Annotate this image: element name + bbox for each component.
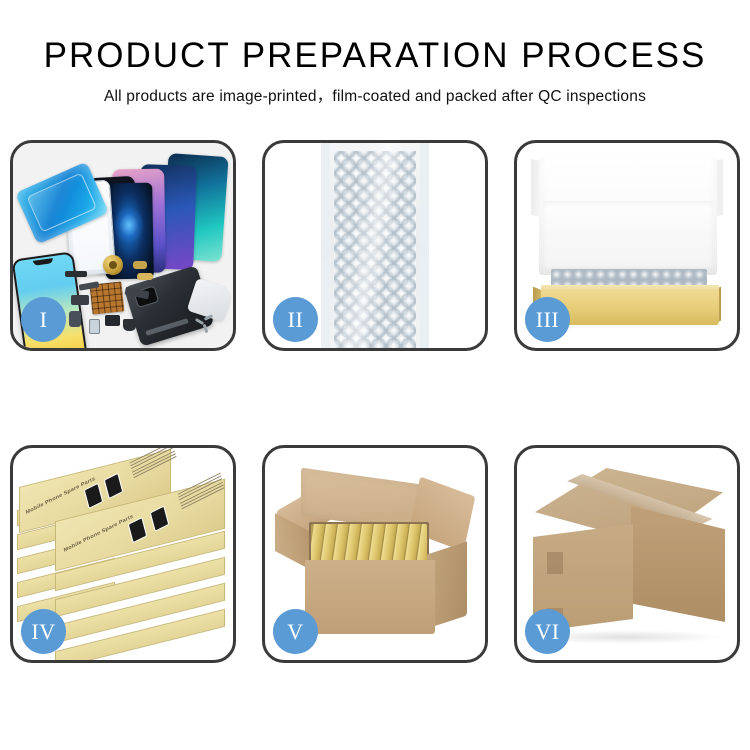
process-step-panel-1[interactable]: I: [10, 140, 236, 351]
screen-glow: [114, 207, 145, 244]
step-badge-6: VI: [525, 609, 570, 654]
spare-part-sim-tray: [89, 319, 100, 334]
step-badge-5: V: [273, 609, 318, 654]
spare-part-vibrator: [105, 315, 120, 326]
spare-part-battery-cell: [69, 311, 81, 327]
plastic-sheen: [330, 143, 420, 348]
phone-notch: [33, 258, 54, 266]
page-title: PRODUCT PREPARATION PROCESS: [0, 36, 750, 76]
step-badge-1: I: [21, 297, 66, 342]
spare-part-speaker: [65, 271, 87, 277]
spare-part-gold-clip-2: [137, 273, 153, 280]
carton-seam-upper: [547, 552, 563, 574]
process-step-panel-5[interactable]: V: [262, 445, 488, 663]
step-badge-2: II: [273, 297, 318, 342]
bubble-wrap-sheet: [321, 143, 429, 348]
spare-part-module: [71, 295, 89, 305]
page-subtitle: All products are image-printed，film-coat…: [0, 84, 750, 106]
process-step-grid: I II III: [10, 140, 740, 685]
process-step-panel-2[interactable]: II: [262, 140, 488, 351]
spare-part-button: [123, 319, 136, 331]
foam-pad: [543, 201, 713, 267]
board-strip: [145, 318, 189, 336]
process-step-panel-6[interactable]: VI: [514, 445, 740, 663]
carton-front-face: [305, 560, 435, 634]
process-step-panel-4[interactable]: Mobile Phone Spare Parts Mobile Phone Sp…: [10, 445, 236, 663]
screws-group: [195, 316, 221, 336]
process-step-panel-3[interactable]: III: [514, 140, 740, 351]
step-badge-4: IV: [21, 609, 66, 654]
page-header: PRODUCT PREPARATION PROCESS All products…: [0, 0, 750, 128]
step-badge-3: III: [525, 297, 570, 342]
gold-coil-part: [103, 255, 123, 275]
spare-part-gold-clip: [133, 261, 147, 269]
